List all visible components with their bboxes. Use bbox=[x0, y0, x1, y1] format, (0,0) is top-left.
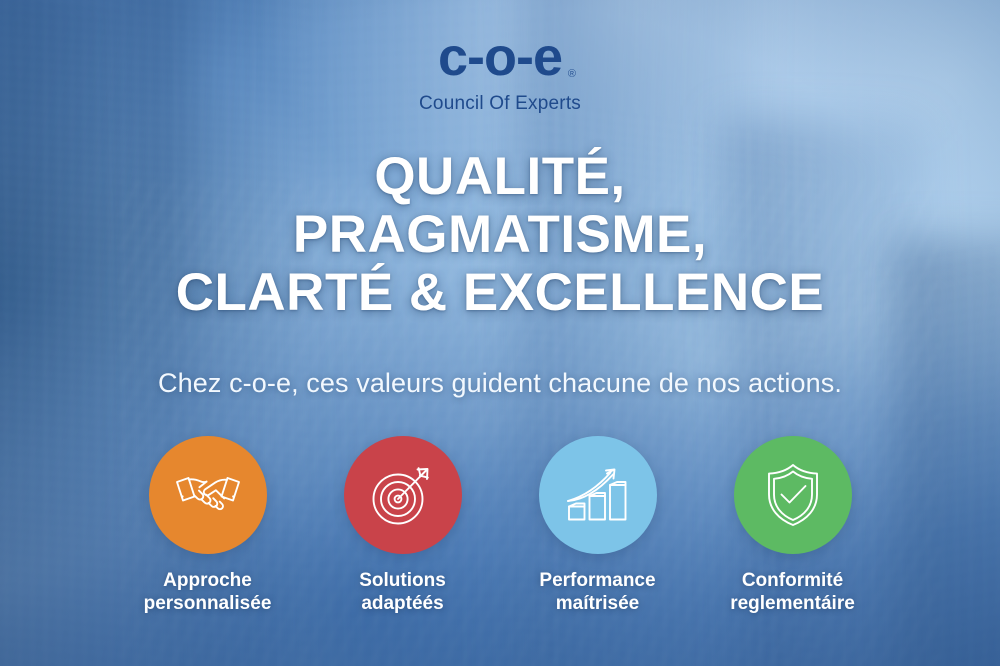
label-line-1: Approche bbox=[163, 570, 252, 591]
label-line-2: maítrisée bbox=[556, 593, 639, 614]
headline-line-2: PRAGMATISME, bbox=[0, 206, 1000, 264]
value-card-label: Solutions adaptéés bbox=[303, 569, 503, 615]
value-card-conformite: Conformité reglementáire bbox=[734, 436, 852, 615]
brand-logo: c-o-e ® Council Of Experts bbox=[0, 30, 1000, 115]
value-card-label: Conformité reglementáire bbox=[693, 569, 893, 615]
value-pillars: Approche personnalisée bbox=[0, 436, 1000, 615]
logo-wordmark: c-o-e ® bbox=[438, 30, 562, 84]
shield-check-icon bbox=[762, 462, 824, 528]
value-card-solutions: Solutions adaptéés bbox=[344, 436, 462, 615]
registered-trademark-icon: ® bbox=[568, 69, 575, 80]
icon-circle-shield bbox=[734, 436, 852, 554]
page-title: QUALITÉ, PRAGMATISME, CLARTÉ & EXCELLENC… bbox=[0, 148, 1000, 322]
headline-line-3: CLARTÉ & EXCELLENCE bbox=[0, 264, 1000, 322]
label-line-2: reglementáire bbox=[730, 593, 855, 614]
icon-circle-handshake bbox=[149, 436, 267, 554]
page-subtitle: Chez c-o-e, ces valeurs guident chacune … bbox=[0, 368, 1000, 399]
label-line-1: Performance bbox=[539, 570, 655, 591]
icon-circle-growth-chart bbox=[539, 436, 657, 554]
label-line-2: adaptéés bbox=[361, 593, 443, 614]
label-line-1: Conformité bbox=[742, 570, 843, 591]
value-card-approche: Approche personnalisée bbox=[149, 436, 267, 615]
label-line-2: personnalisée bbox=[144, 593, 272, 614]
value-card-label: Approche personnalisée bbox=[108, 569, 308, 615]
logo-tagline: Council Of Experts bbox=[0, 93, 1000, 115]
logo-text: c-o-e bbox=[438, 27, 562, 87]
target-arrow-icon bbox=[368, 462, 438, 528]
growth-chart-icon bbox=[563, 464, 633, 526]
headline-line-1: QUALITÉ, bbox=[0, 148, 1000, 206]
handshake-icon bbox=[172, 469, 244, 521]
icon-circle-target bbox=[344, 436, 462, 554]
value-card-label: Performance maítrisée bbox=[498, 569, 698, 615]
label-line-1: Solutions bbox=[359, 570, 446, 591]
value-card-performance: Performance maítrisée bbox=[539, 436, 657, 615]
